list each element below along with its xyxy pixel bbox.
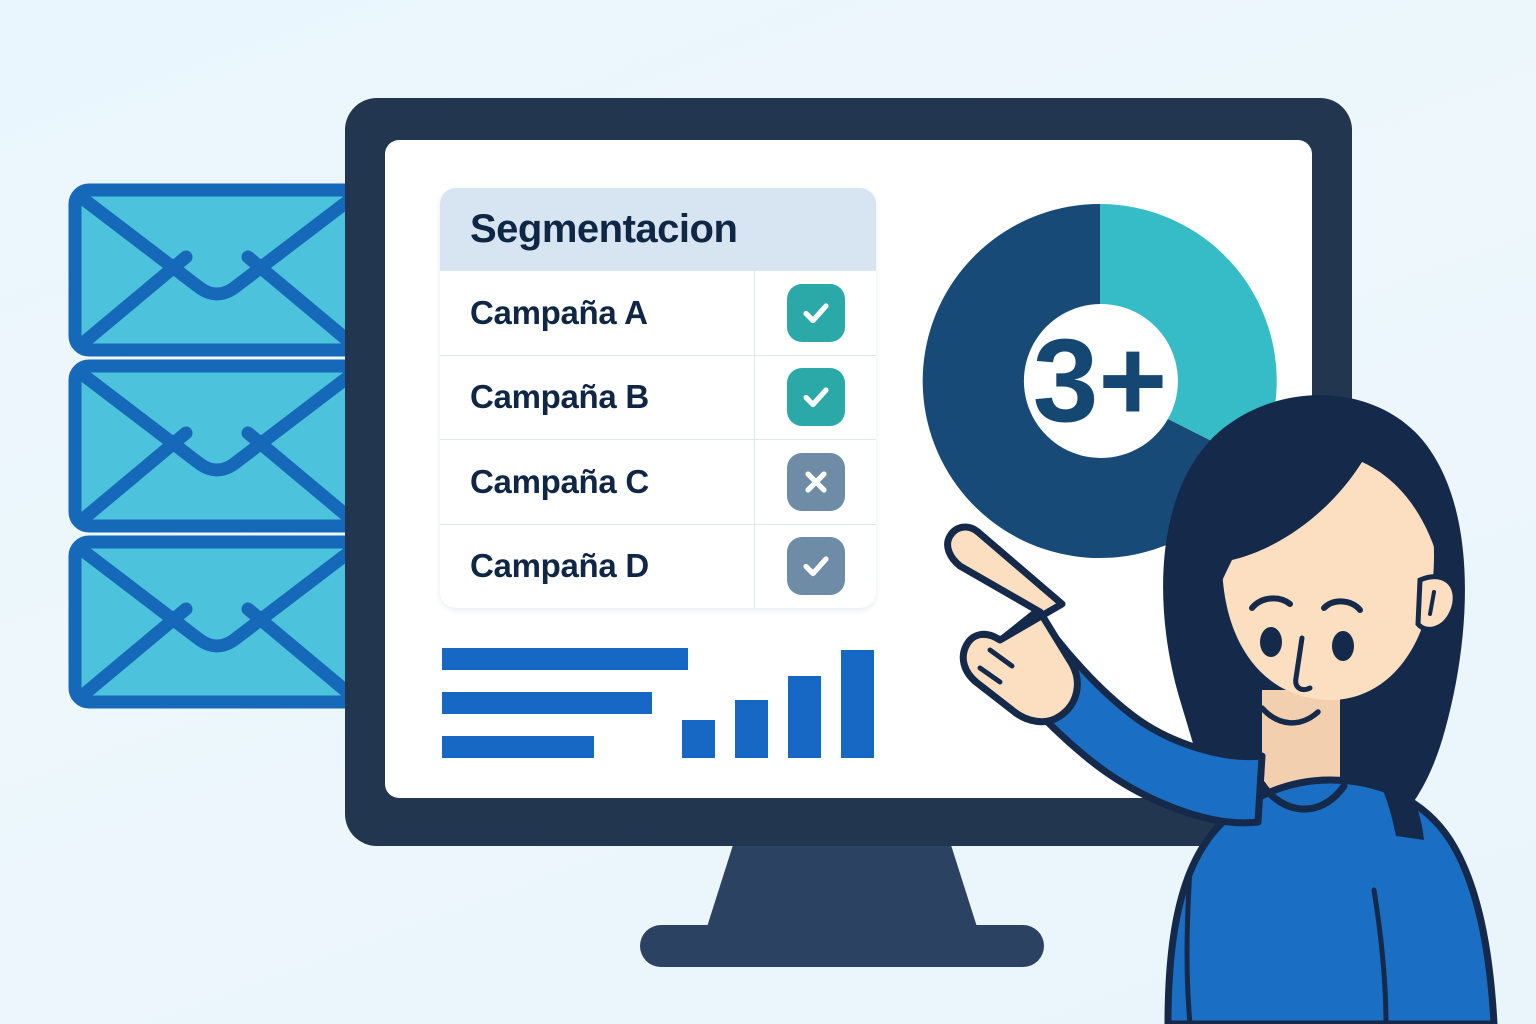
- illustration-canvas: Segmentacion Campaña A Campaña B: [0, 0, 1536, 1024]
- presenter-figure: [0, 0, 1536, 1024]
- eye-right: [1332, 631, 1354, 661]
- neck: [1262, 690, 1340, 790]
- fold-line: [1187, 870, 1190, 1024]
- eye-left: [1260, 627, 1282, 657]
- pointing-hand-icon: [948, 527, 1078, 722]
